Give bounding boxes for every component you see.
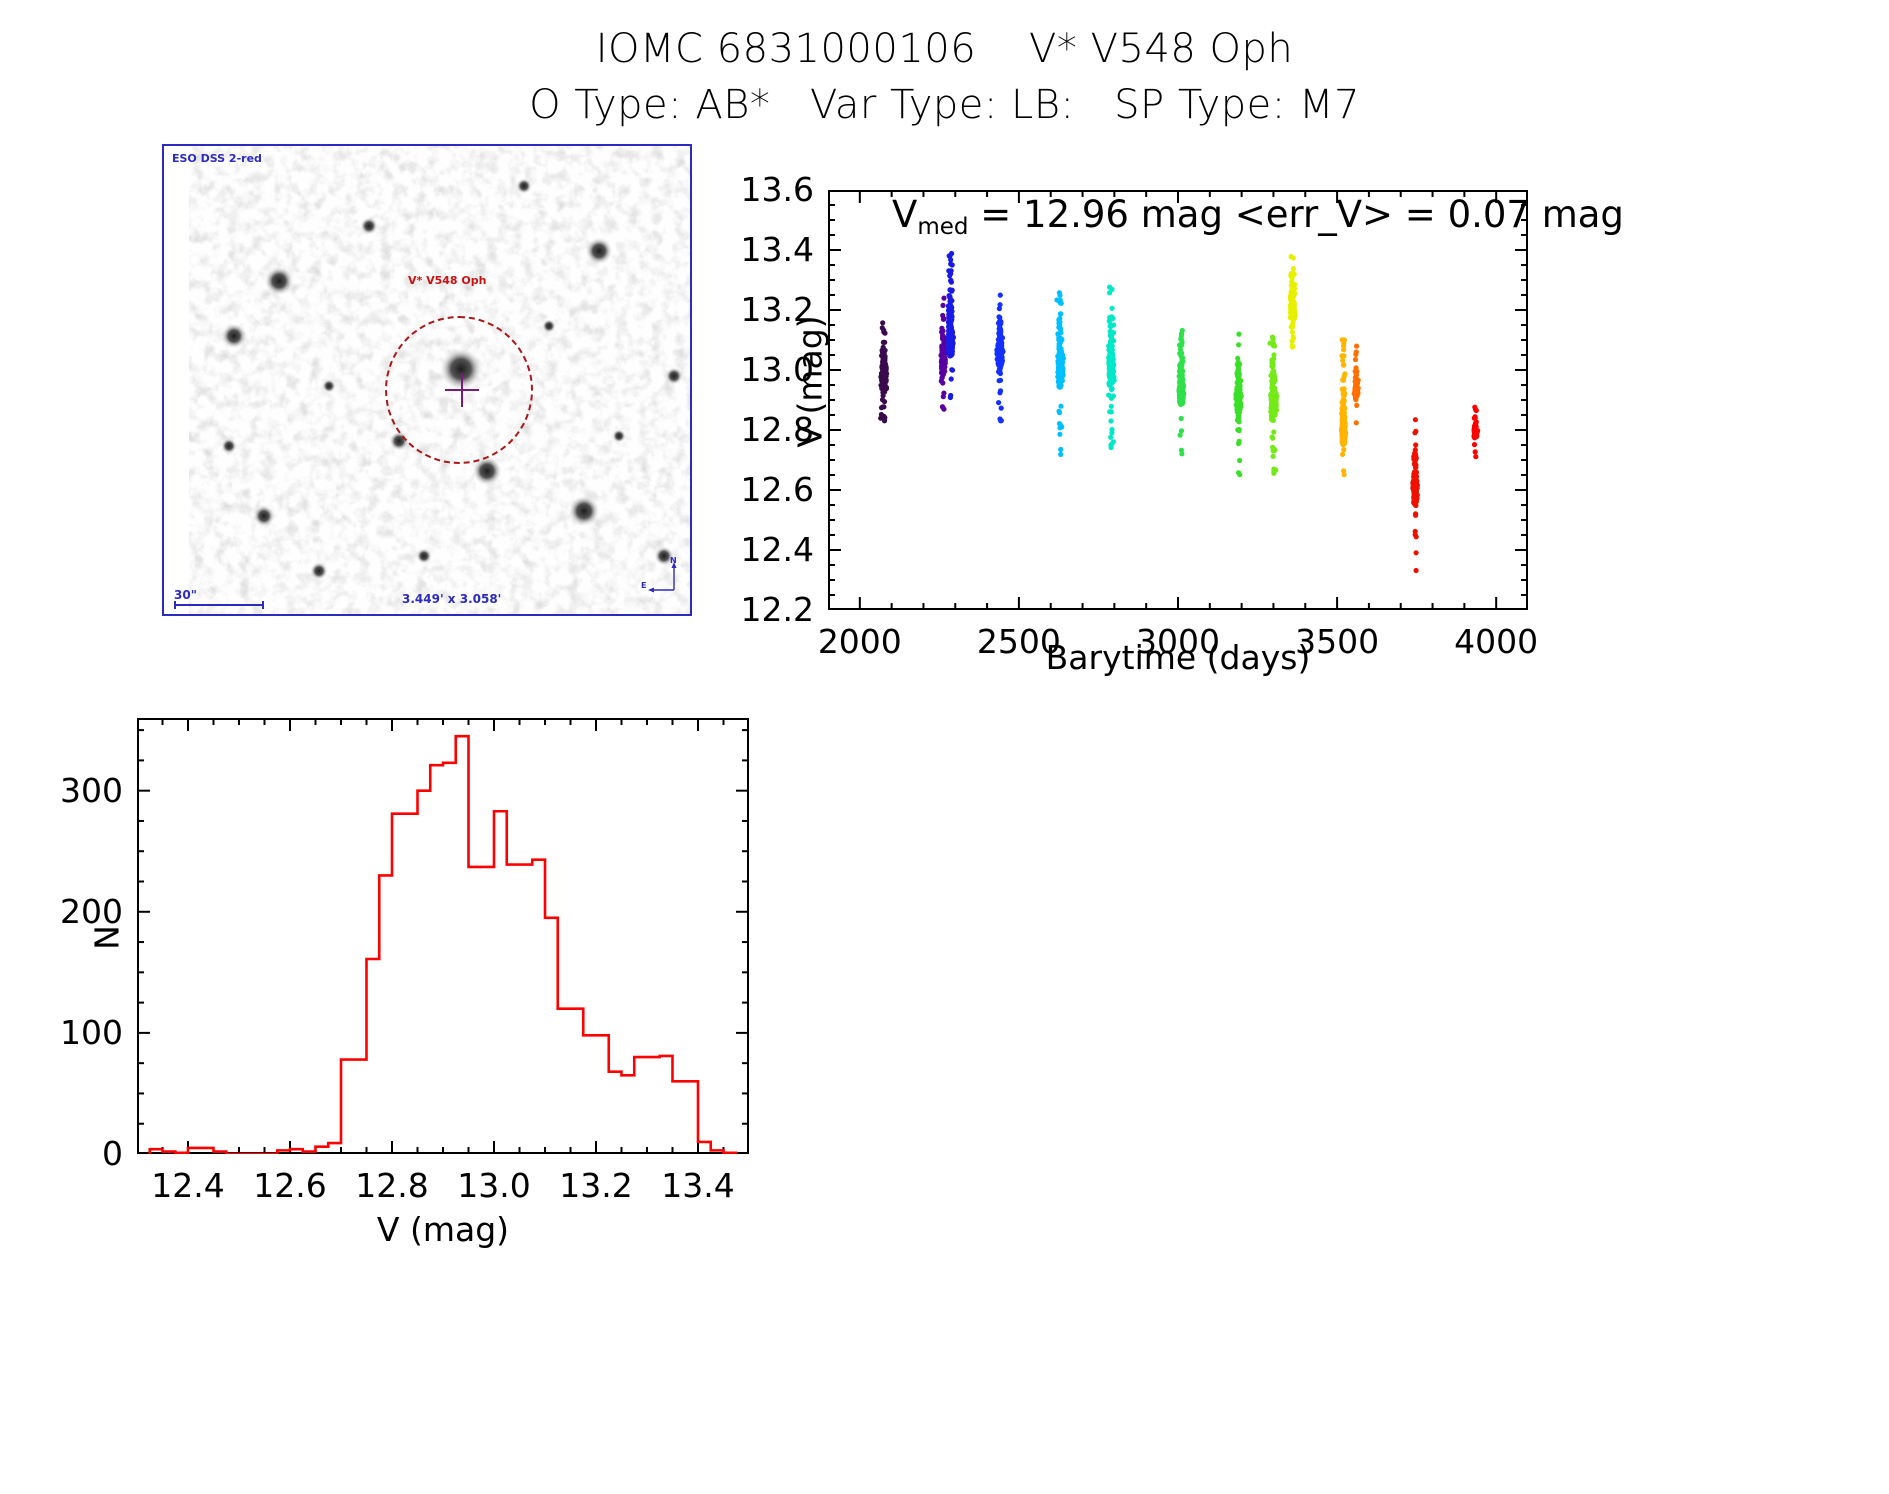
histogram-plot-area: [137, 718, 749, 1154]
scale-bar: [174, 604, 264, 606]
lightcurve-point-group: [1288, 254, 1298, 350]
lightcurve-y-tick: 13.6: [614, 173, 814, 206]
lightcurve-y-tick: 12.6: [614, 473, 814, 506]
histogram-panel: 0100200300 12.412.612.813.013.213.4 N V …: [137, 718, 749, 1154]
lightcurve-point-group: [1054, 290, 1066, 457]
page-title-block: IOMC 6831000106 V* V548 Oph O Type: AB* …: [0, 22, 1889, 134]
object-types-line: O Type: AB* Var Type: LB: SP Type: M7: [0, 76, 1889, 134]
histogram-step-outline: [150, 736, 737, 1154]
field-of-view-label: 3.449' x 3.058': [402, 592, 501, 606]
lightcurve-y-axis-label: V (mag): [791, 232, 830, 532]
lightcurve-y-tick: 13.4: [614, 233, 814, 266]
lightcurve-x-axis-label: Barytime (days): [828, 638, 1528, 677]
sky-image-panel[interactable]: V* V548 Oph ESO DSS 2-red 30" 3.449' x 3…: [162, 144, 692, 616]
histogram-y-tick: 0: [0, 1137, 123, 1170]
lightcurve-point-group: [1267, 335, 1279, 476]
lightcurve-y-tick: 12.8: [614, 413, 814, 446]
lightcurve-y-tick: 13.2: [614, 293, 814, 326]
survey-label: ESO DSS 2-red: [172, 152, 262, 165]
histogram-y-axis-label: N: [88, 838, 127, 1038]
lightcurve-panel: 12.212.412.612.813.013.213.413.6 2000250…: [828, 190, 1528, 610]
lightcurve-point-group: [1106, 285, 1117, 451]
svg-text:E: E: [641, 581, 646, 590]
lightcurve-point-group: [1471, 405, 1480, 460]
page-title: IOMC 6831000106 V* V548 Oph: [0, 22, 1889, 76]
lightcurve-point-group: [1233, 332, 1244, 478]
lightcurve-y-tick: 13.0: [614, 353, 814, 386]
target-name-overlay: V* V548 Oph: [408, 274, 486, 287]
svg-text:N: N: [670, 556, 677, 565]
scale-bar-label: 30": [174, 588, 197, 602]
lightcurve-point-group: [1339, 337, 1348, 477]
histogram-y-tick: 300: [0, 774, 123, 807]
iomc-summary-page: IOMC 6831000106 V* V548 Oph O Type: AB* …: [0, 0, 1889, 1494]
lightcurve-point-group: [946, 251, 956, 400]
lightcurve-point-group: [878, 320, 889, 423]
histogram-x-axis-label: V (mag): [137, 1210, 749, 1249]
lightcurve-point-group: [1410, 417, 1420, 573]
histogram-x-tick: 13.4: [618, 1166, 778, 1205]
lightcurve-plot-area: [828, 190, 1528, 610]
lightcurve-point-group: [994, 293, 1005, 424]
lightcurve-point-group: [1352, 344, 1361, 426]
lightcurve-point-group: [1176, 328, 1186, 457]
compass-icon: N E: [640, 556, 684, 600]
